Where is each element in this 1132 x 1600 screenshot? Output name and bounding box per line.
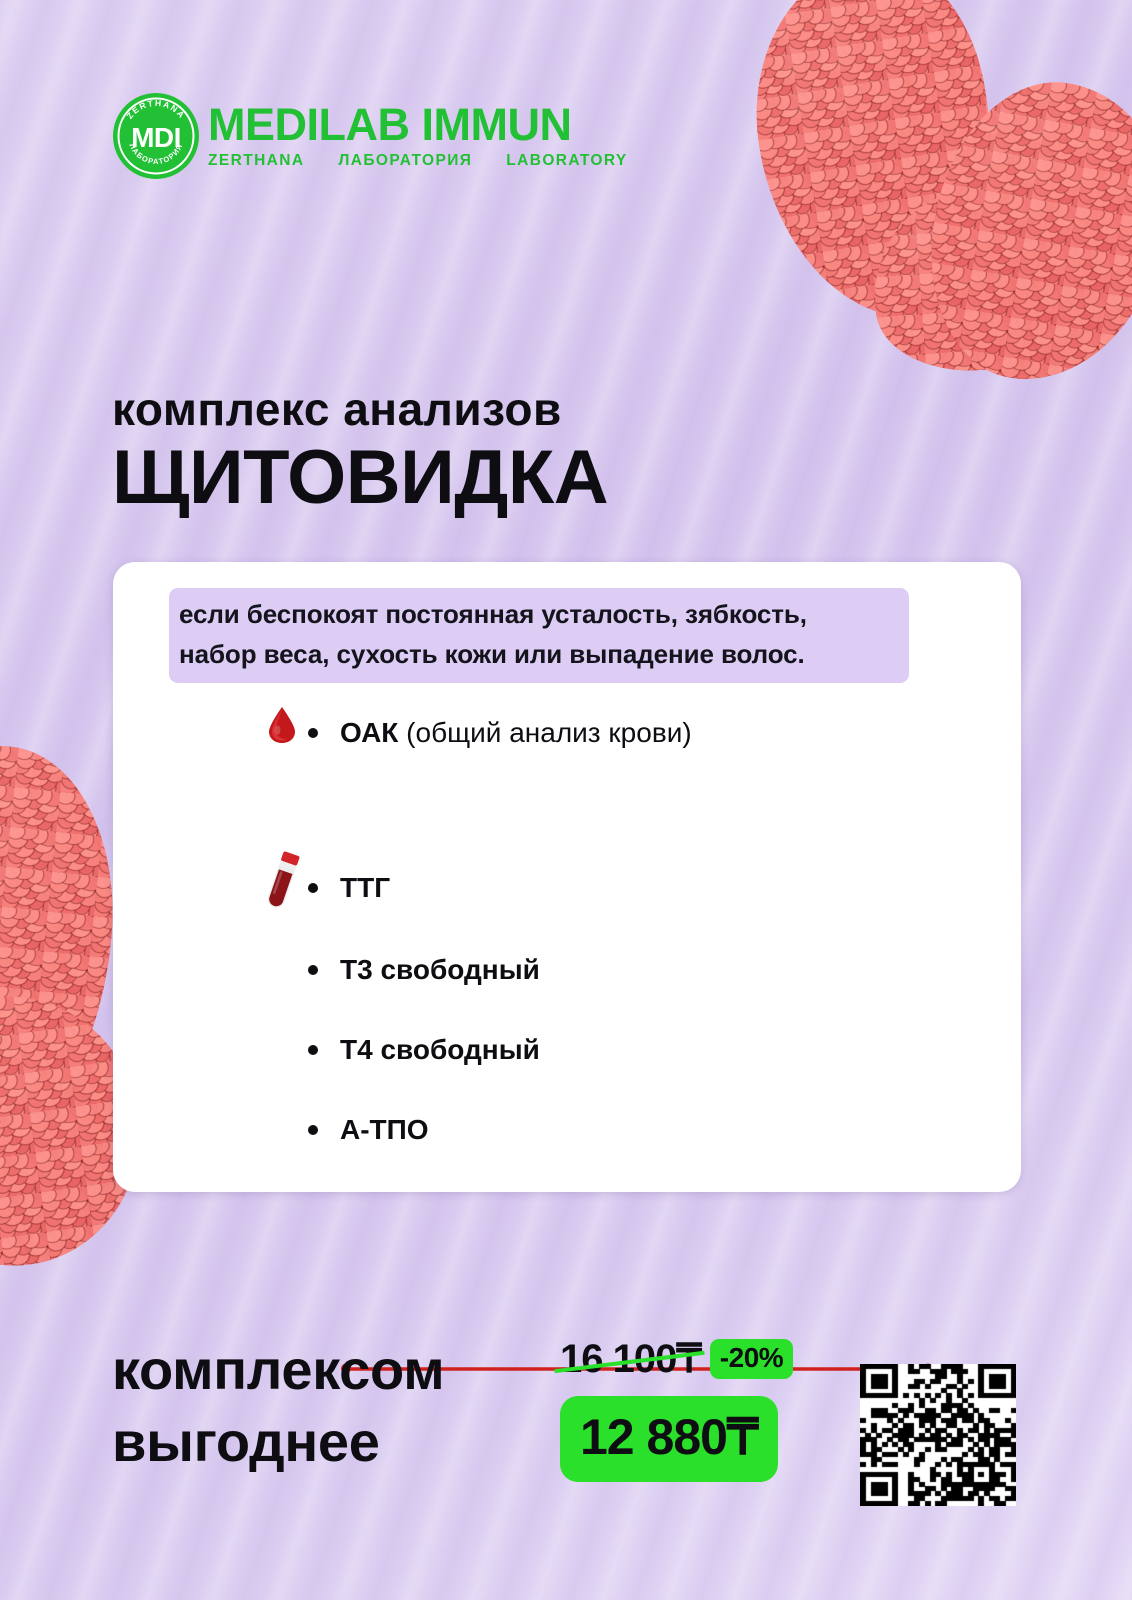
offer-headline: комплексом выгоднее [112, 1334, 444, 1477]
offer-headline-line-2: выгоднее [112, 1406, 444, 1478]
test-label-t4: Т4 свободный [340, 1034, 540, 1066]
brand-name: MEDILAB IMMUN [208, 102, 628, 147]
page-title: комплекс анализов ЩИТОВИДКА [112, 385, 608, 519]
blood-drop-icon [266, 706, 298, 744]
brand-logo: ZERTHANA ЛАБОРАТОРИЯ MDI MEDILAB IMMUN Z… [112, 92, 628, 180]
bullet-icon [308, 1045, 318, 1055]
price-block: 16 100₸ -20% 12 880₸ [560, 1336, 810, 1482]
thyroid-gland-image-top [724, 0, 1132, 382]
discount-badge: -20% [710, 1339, 793, 1379]
brand-sub-kk: ZERTHANA [208, 152, 304, 170]
symptom-note: если беспокоят постоянная усталость, зяб… [169, 588, 909, 683]
new-price-box: 12 880₸ [560, 1396, 778, 1482]
test-label-oak: ОАК (общий анализ крови) [340, 717, 692, 749]
qr-code[interactable] [860, 1364, 1016, 1506]
new-price: 12 880₸ [580, 1409, 758, 1465]
tests-card: если беспокоят постоянная усталость, зяб… [113, 562, 1021, 1192]
headline-main: ЩИТОВИДКА [112, 437, 608, 519]
offer-headline-line-1: комплексом [112, 1334, 444, 1406]
symptom-note-line-1: если беспокоят постоянная усталость, зяб… [179, 595, 901, 635]
test-label-t3: Т3 свободный [340, 954, 540, 986]
headline-kicker: комплекс анализов [112, 385, 608, 433]
bullet-icon [308, 728, 318, 738]
test-name-atpo: А-ТПО [340, 1114, 429, 1145]
bullet-icon [308, 883, 318, 893]
symptom-note-line-2: набор веса, сухость кожи или выпадение в… [179, 635, 901, 675]
bullet-icon [308, 965, 318, 975]
bullet-icon [308, 1125, 318, 1135]
test-label-atpo: А-ТПО [340, 1114, 429, 1146]
test-item-t4: Т4 свободный [308, 1034, 540, 1066]
test-item-oak: ОАК (общий анализ крови) [308, 717, 692, 749]
test-name-t4: Т4 свободный [340, 1034, 540, 1065]
mdi-logo-icon: ZERTHANA ЛАБОРАТОРИЯ MDI [112, 92, 200, 180]
test-label-ttg: ТТГ [340, 872, 390, 904]
test-item-t3: Т3 свободный [308, 954, 540, 986]
logo-initials-text: MDI [131, 122, 181, 153]
test-detail-oak: (общий анализ крови) [398, 717, 691, 748]
test-item-ttg: ТТГ [308, 872, 390, 904]
brand-sub-en: LABORATORY [506, 152, 627, 170]
brand-wordmark: MEDILAB IMMUN ZERTHANA ЛАБОРАТОРИЯ LABOR… [208, 102, 628, 170]
old-price-row: 16 100₸ -20% [560, 1336, 810, 1382]
test-item-atpo: А-ТПО [308, 1114, 429, 1146]
old-price: 16 100₸ [560, 1336, 701, 1382]
test-name-oak: ОАК [340, 717, 398, 748]
brand-sub-ru: ЛАБОРАТОРИЯ [338, 152, 472, 170]
test-name-ttg: ТТГ [340, 872, 390, 903]
brand-subtitle: ZERTHANA ЛАБОРАТОРИЯ LABORATORY [208, 152, 628, 170]
test-tube-icon [263, 850, 301, 912]
test-name-t3: Т3 свободный [340, 954, 540, 985]
